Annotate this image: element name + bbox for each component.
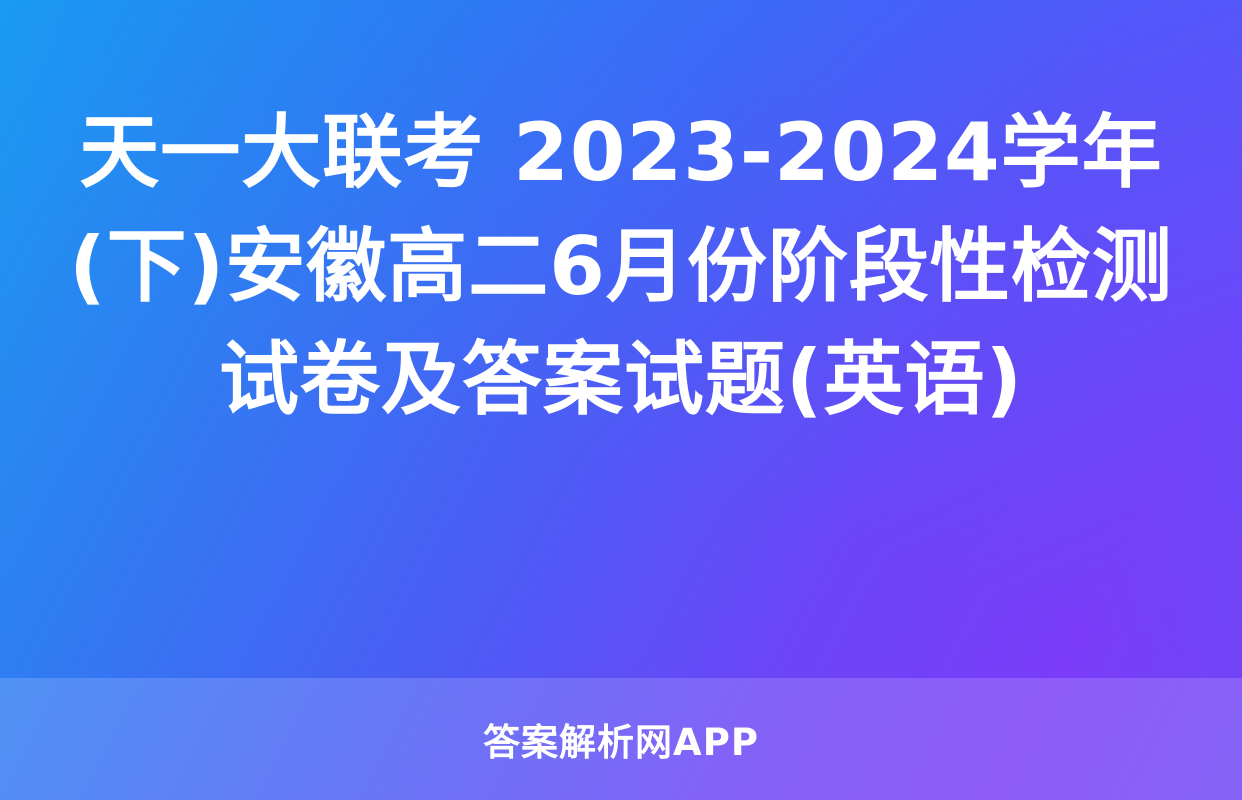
app-watermark-label: 答案解析网APP	[483, 712, 759, 766]
promo-banner: 天一大联考 2023-2024学年(下)安徽高二6月份阶段性检测试卷及答案试题(…	[0, 0, 1242, 800]
title-container: 天一大联考 2023-2024学年(下)安徽高二6月份阶段性检测试卷及答案试题(…	[0, 96, 1242, 437]
app-watermark-bar: 答案解析网APP	[0, 678, 1242, 800]
page-title: 天一大联考 2023-2024学年(下)安徽高二6月份阶段性检测试卷及答案试题(…	[54, 96, 1188, 437]
